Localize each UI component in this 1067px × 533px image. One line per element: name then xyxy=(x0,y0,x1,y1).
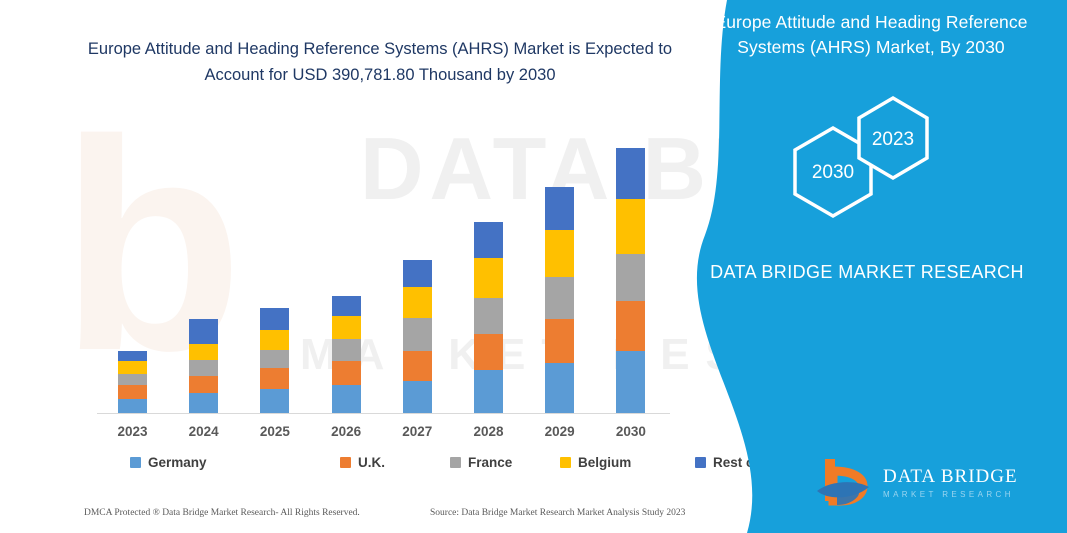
x-axis-labels: 20232024202520262027202820292030 xyxy=(0,424,720,444)
x-label-2026: 2026 xyxy=(316,424,376,439)
infographic-root: b DATA BRIDGE MARKET RESEARCH Europe Att… xyxy=(0,0,1067,533)
bar-segment-2026-rest-of-europe[interactable] xyxy=(332,296,361,316)
panel-brand-text: DATA BRIDGE MARKET RESEARCH xyxy=(667,258,1067,286)
bar-segment-2023-belgium[interactable] xyxy=(118,361,147,373)
legend-swatch-icon xyxy=(560,457,571,468)
bar-segment-2024-rest-of-europe[interactable] xyxy=(189,319,218,344)
legend-swatch-icon xyxy=(130,457,141,468)
bar-segment-2024-france[interactable] xyxy=(189,360,218,375)
bar-segment-2025-u-k[interactable] xyxy=(260,368,289,389)
bar-segment-2025-france[interactable] xyxy=(260,350,289,368)
footer-copyright: DMCA Protected ® Data Bridge Market Rese… xyxy=(84,508,360,518)
bar-segment-2030-germany[interactable] xyxy=(616,351,645,413)
bars-layer xyxy=(0,0,720,413)
logo-text-bottom: MARKET RESEARCH xyxy=(883,490,1014,499)
bar-2026[interactable] xyxy=(332,0,361,413)
hexagon-group: 2030 2023 xyxy=(667,88,1067,228)
bar-segment-2024-belgium[interactable] xyxy=(189,344,218,360)
legend-item-france[interactable]: France xyxy=(450,455,512,470)
chart-legend: GermanyU.K.FranceBelgiumRest of Europe xyxy=(110,455,670,475)
logo-b-icon xyxy=(817,459,869,505)
bar-segment-2028-belgium[interactable] xyxy=(474,258,503,298)
bar-segment-2027-germany[interactable] xyxy=(403,381,432,413)
bar-segment-2026-belgium[interactable] xyxy=(332,316,361,340)
legend-label: Belgium xyxy=(578,455,631,470)
brand-logo: DATA BRIDGE MARKET RESEARCH xyxy=(815,455,1025,513)
x-label-2029: 2029 xyxy=(530,424,590,439)
hexagon-2030-label: 2030 xyxy=(812,162,854,183)
bar-2027[interactable] xyxy=(403,0,432,413)
legend-label: Germany xyxy=(148,455,207,470)
bar-2025[interactable] xyxy=(260,0,289,413)
bar-segment-2028-france[interactable] xyxy=(474,298,503,333)
bar-2024[interactable] xyxy=(189,0,218,413)
bar-segment-2029-belgium[interactable] xyxy=(545,230,574,278)
bar-segment-2026-france[interactable] xyxy=(332,339,361,361)
bar-segment-2028-germany[interactable] xyxy=(474,370,503,413)
bar-segment-2029-france[interactable] xyxy=(545,277,574,319)
bar-segment-2023-rest-of-europe[interactable] xyxy=(118,351,147,362)
legend-item-belgium[interactable]: Belgium xyxy=(560,455,631,470)
hexagon-2023-label: 2023 xyxy=(872,129,914,150)
bar-segment-2024-germany[interactable] xyxy=(189,393,218,413)
legend-label: U.K. xyxy=(358,455,385,470)
brand-panel: Europe Attitude and Heading Reference Sy… xyxy=(667,0,1067,533)
bar-segment-2023-germany[interactable] xyxy=(118,399,147,413)
legend-swatch-icon xyxy=(450,457,461,468)
legend-label: France xyxy=(468,455,512,470)
bar-segment-2027-u-k[interactable] xyxy=(403,351,432,382)
bar-segment-2027-france[interactable] xyxy=(403,318,432,351)
bar-2030[interactable] xyxy=(616,0,645,413)
bar-segment-2030-u-k[interactable] xyxy=(616,301,645,351)
bar-2023[interactable] xyxy=(118,0,147,413)
bar-segment-2026-germany[interactable] xyxy=(332,385,361,413)
x-label-2028: 2028 xyxy=(459,424,519,439)
bar-segment-2030-rest-of-europe[interactable] xyxy=(616,148,645,200)
bar-segment-2023-france[interactable] xyxy=(118,374,147,385)
x-label-2023: 2023 xyxy=(103,424,163,439)
logo-text-top: DATA BRIDGE xyxy=(883,466,1018,487)
x-label-2030: 2030 xyxy=(601,424,661,439)
x-label-2024: 2024 xyxy=(174,424,234,439)
legend-item-germany[interactable]: Germany xyxy=(130,455,207,470)
bar-segment-2029-germany[interactable] xyxy=(545,363,574,413)
x-axis-line xyxy=(97,413,670,414)
bar-segment-2023-u-k[interactable] xyxy=(118,385,147,398)
chart-plot-area: 20232024202520262027202820292030 xyxy=(0,0,720,533)
bar-segment-2025-rest-of-europe[interactable] xyxy=(260,308,289,330)
bar-segment-2028-u-k[interactable] xyxy=(474,334,503,370)
bar-segment-2026-u-k[interactable] xyxy=(332,361,361,385)
bar-2029[interactable] xyxy=(545,0,574,413)
footer: DMCA Protected ® Data Bridge Market Rese… xyxy=(0,508,720,528)
footer-source: Source: Data Bridge Market Research Mark… xyxy=(430,508,685,518)
bar-segment-2028-rest-of-europe[interactable] xyxy=(474,222,503,258)
bar-segment-2025-germany[interactable] xyxy=(260,389,289,413)
bar-segment-2024-u-k[interactable] xyxy=(189,376,218,393)
bar-2028[interactable] xyxy=(474,0,503,413)
bar-segment-2030-france[interactable] xyxy=(616,254,645,302)
x-label-2025: 2025 xyxy=(245,424,305,439)
bar-segment-2027-rest-of-europe[interactable] xyxy=(403,260,432,287)
panel-title: Europe Attitude and Heading Reference Sy… xyxy=(695,10,1047,60)
legend-swatch-icon xyxy=(340,457,351,468)
legend-item-u-k[interactable]: U.K. xyxy=(340,455,385,470)
bar-segment-2029-rest-of-europe[interactable] xyxy=(545,187,574,230)
bar-segment-2030-belgium[interactable] xyxy=(616,199,645,253)
bar-segment-2029-u-k[interactable] xyxy=(545,319,574,363)
bar-segment-2027-belgium[interactable] xyxy=(403,287,432,318)
x-label-2027: 2027 xyxy=(387,424,447,439)
bar-segment-2025-belgium[interactable] xyxy=(260,330,289,350)
